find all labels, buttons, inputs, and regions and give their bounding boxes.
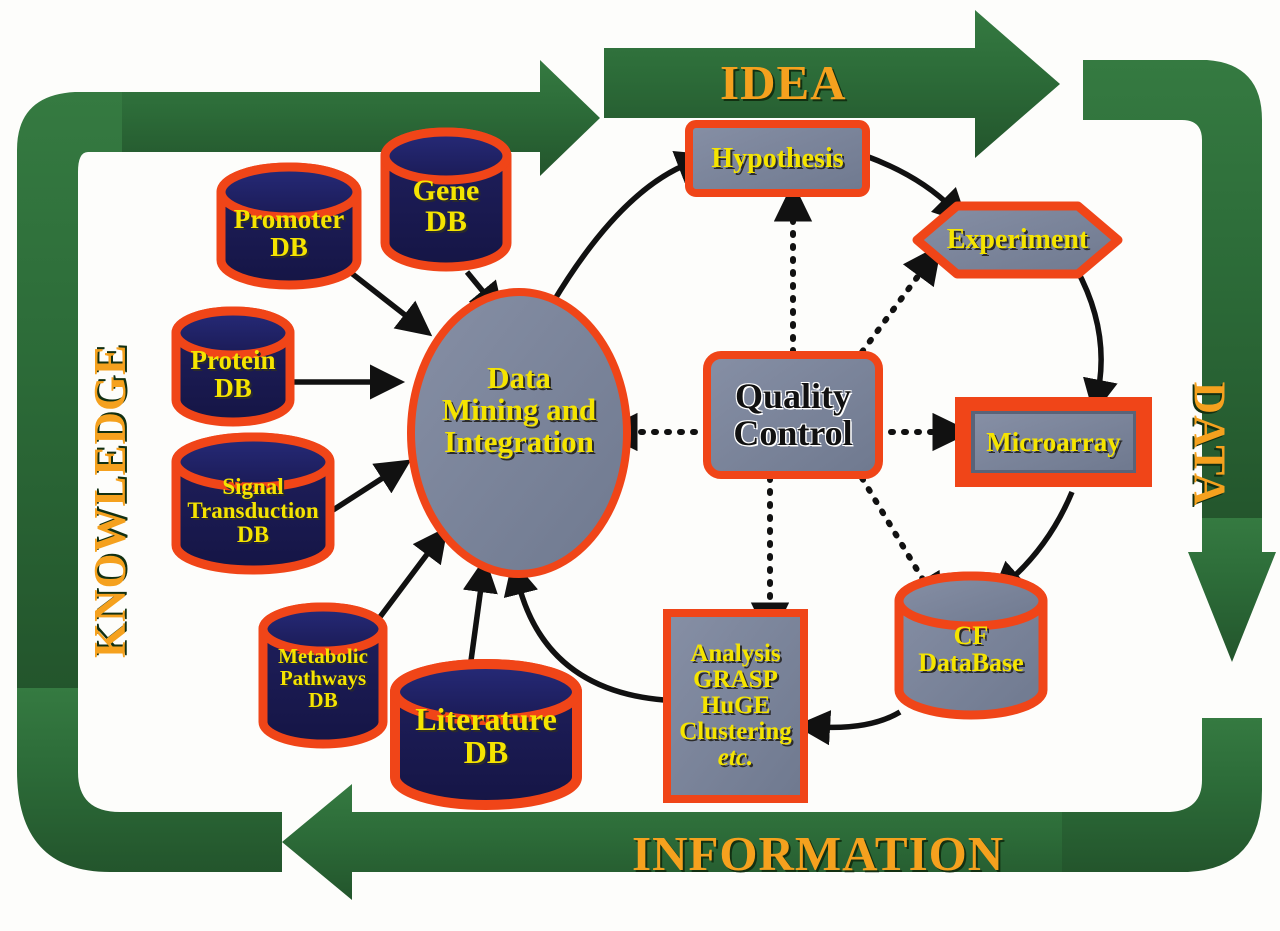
edge-experiment-to-microarray bbox=[1076, 268, 1101, 392]
edge-literature-to-datamining bbox=[470, 580, 482, 668]
edge-datamining-to-hypothesis bbox=[552, 163, 690, 304]
edge-cfdatabase-to-analysis bbox=[818, 712, 900, 727]
edge-microarray-to-cfdatabase bbox=[1008, 492, 1072, 582]
cycle-band-idea bbox=[120, 10, 1060, 176]
edge-promoter-to-datamining bbox=[350, 272, 414, 322]
diagram-canvas: IDEA INFORMATION KNOWLEDGE DATA Gene DB … bbox=[0, 0, 1280, 931]
edge-signal-to-datamining bbox=[330, 472, 392, 512]
edge-hypothesis-to-experiment bbox=[866, 156, 952, 208]
edge-quality-to-experiment bbox=[862, 268, 924, 352]
edge-quality-to-cfdatabase bbox=[862, 478, 928, 588]
